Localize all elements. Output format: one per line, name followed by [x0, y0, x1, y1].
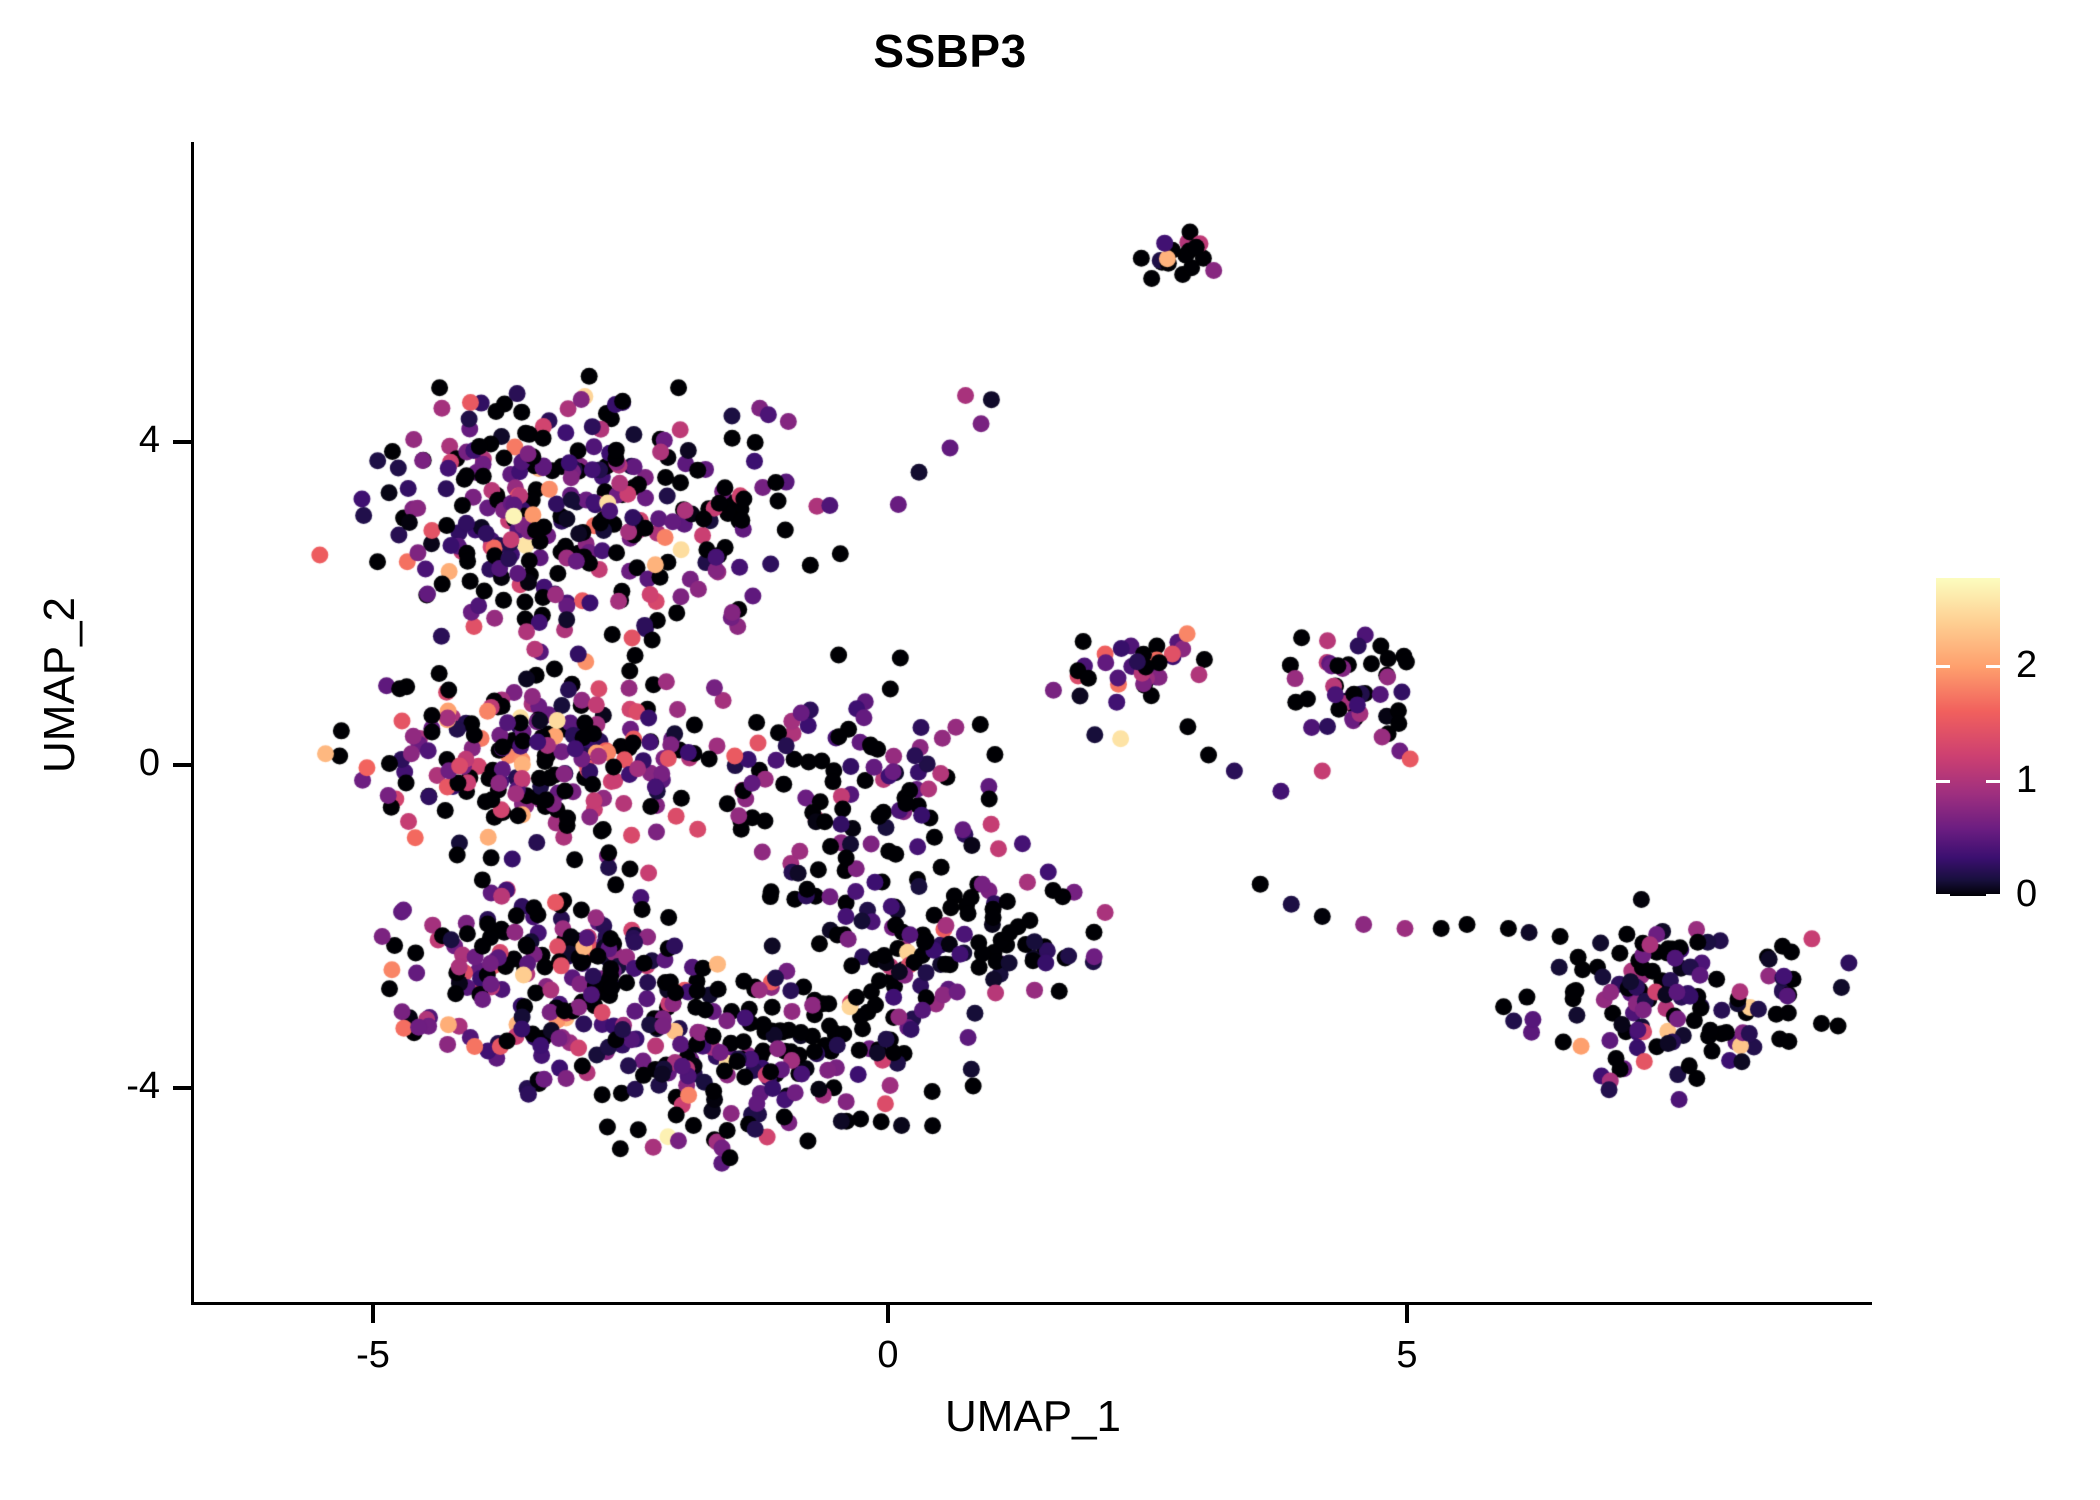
x-tick-mark-5	[1405, 1305, 1409, 1323]
plot-panel	[194, 142, 1872, 1302]
y-tick-mark--4	[173, 1086, 191, 1090]
colorbar-legend: 2 1 0	[1930, 566, 2090, 911]
x-tick-mark-0	[886, 1305, 890, 1323]
y-tick-mark-0	[173, 763, 191, 767]
page-title: SSBP3	[0, 24, 1900, 78]
colorbar-tick-2-left	[1936, 665, 1950, 668]
colorbar-tick-1-left	[1936, 780, 1950, 783]
umap-feature-plot: { "title": "SSBP3", "axes": { "xlabel": …	[0, 0, 2100, 1500]
colorbar-label-1: 1	[2016, 761, 2037, 799]
y-axis-label: UMAP_2	[35, 475, 85, 895]
colorbar-tick-1-right	[1986, 780, 2000, 783]
colorbar-tick-0-left	[1936, 894, 1950, 897]
colorbar-label-0: 0	[2016, 875, 2037, 913]
y-tick-label--4: -4	[40, 1067, 160, 1105]
x-tick-mark--5	[371, 1305, 375, 1323]
colorbar-gradient	[1936, 578, 2000, 896]
scatter-points-layer	[194, 142, 1872, 1302]
x-tick-label--5: -5	[303, 1336, 443, 1374]
x-axis-label: UMAP_1	[194, 1392, 1872, 1442]
colorbar-tick-0-right	[1986, 894, 2000, 897]
x-tick-label-5: 5	[1337, 1336, 1477, 1374]
colorbar-label-2: 2	[2016, 646, 2037, 684]
y-tick-mark-4	[173, 440, 191, 444]
y-tick-label-4: 4	[40, 421, 160, 459]
x-tick-label-0: 0	[818, 1336, 958, 1374]
colorbar-tick-2-right	[1986, 665, 2000, 668]
